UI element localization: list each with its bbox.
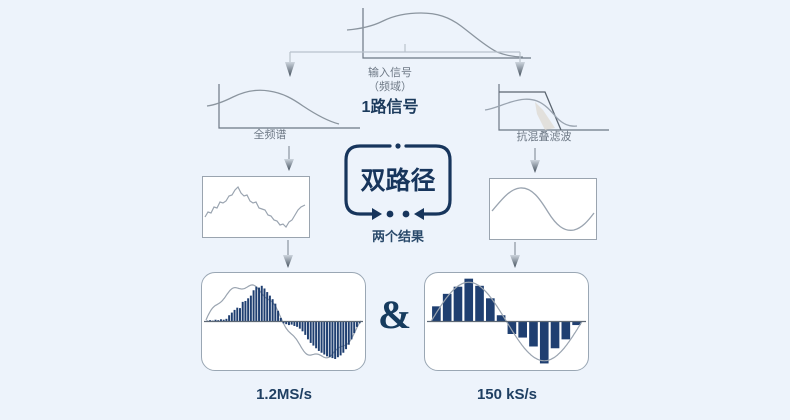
left-output-arrow: [281, 240, 295, 270]
top-split-connector: [285, 44, 525, 84]
dual-path-label: 双路径: [342, 166, 454, 196]
high-rate-label: 1.2MS/s: [200, 385, 368, 404]
full-spectrum-caption: 全频谱: [215, 128, 325, 142]
left-branch-arrow: [282, 146, 296, 172]
high-rate-sampled-waveform-panel: [201, 272, 366, 371]
low-rate-label: 150 kS/s: [423, 385, 591, 404]
full-spectrum-trace-panel: [202, 176, 310, 238]
filtered-sine-trace-panel: [489, 178, 597, 240]
low-rate-sampled-waveform-panel: [424, 272, 589, 371]
anti-aliasing-filter-chart: [483, 84, 613, 136]
diagram-canvas: 输入信号 （频域） 1路信号 全频谱: [0, 0, 790, 420]
right-output-arrow: [508, 242, 522, 270]
right-branch-arrow: [528, 148, 542, 174]
full-spectrum-chart: [205, 84, 365, 134]
conjunction-ampersand: &: [378, 295, 411, 335]
anti-aliasing-caption: 抗混叠滤波: [484, 130, 604, 144]
two-results-label: 两个结果: [342, 228, 454, 245]
